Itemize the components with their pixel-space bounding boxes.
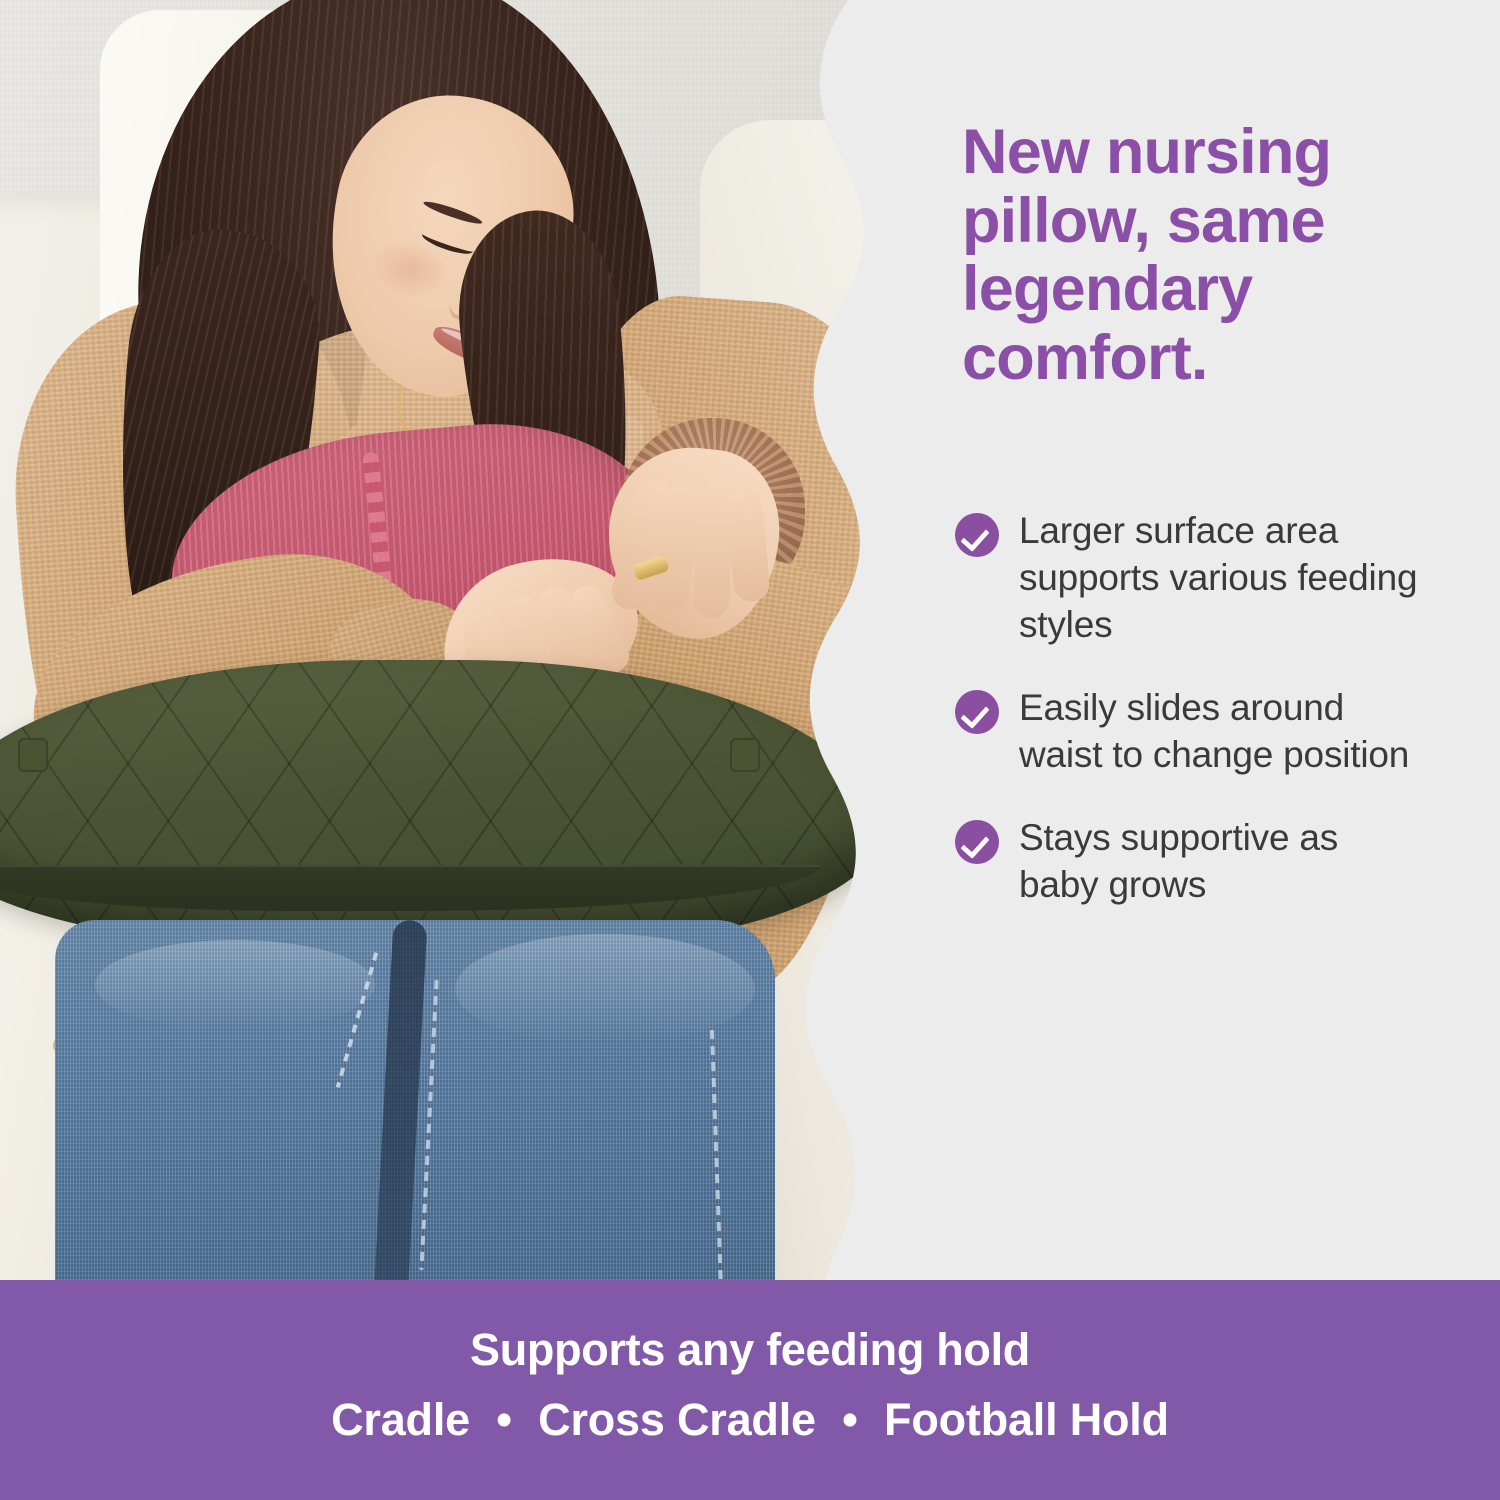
hold-football: Football Hold xyxy=(884,1394,1169,1445)
footer-banner: Supports any feeding hold Cradle • Cross… xyxy=(0,1280,1500,1500)
pillow-tab-right xyxy=(730,738,760,772)
separator-dot-2: • xyxy=(828,1394,872,1445)
pillow-tab-left xyxy=(18,738,48,772)
list-item: Larger surface area supports various fee… xyxy=(955,508,1425,649)
jeans xyxy=(55,920,775,1280)
list-item: Easily slides around waist to change pos… xyxy=(955,685,1425,779)
list-item: Stays supportive as baby grows xyxy=(955,815,1425,909)
product-feature-poster: New nursing pillow, same legendary comfo… xyxy=(0,0,1500,1500)
feeding-holds-list: Cradle • Cross Cradle • Football Hold xyxy=(0,1394,1500,1446)
hold-cross-cradle: Cross Cradle xyxy=(538,1394,816,1445)
eyebrow-left xyxy=(422,198,484,227)
feature-list: Larger surface area supports various fee… xyxy=(955,508,1425,945)
hold-cradle: Cradle xyxy=(331,1394,470,1445)
page-title: New nursing pillow, same legendary comfo… xyxy=(962,118,1432,393)
feature-text: Stays supportive as baby grows xyxy=(1019,815,1425,909)
check-circle-icon xyxy=(955,820,999,864)
feature-text: Easily slides around waist to change pos… xyxy=(1019,685,1425,779)
lifestyle-photo xyxy=(0,0,900,1280)
feature-text: Larger surface area supports various fee… xyxy=(1019,508,1425,649)
separator-dot-1: • xyxy=(482,1394,526,1445)
footer-title: Supports any feeding hold xyxy=(0,1280,1500,1376)
check-circle-icon xyxy=(955,513,999,557)
check-circle-icon xyxy=(955,690,999,734)
